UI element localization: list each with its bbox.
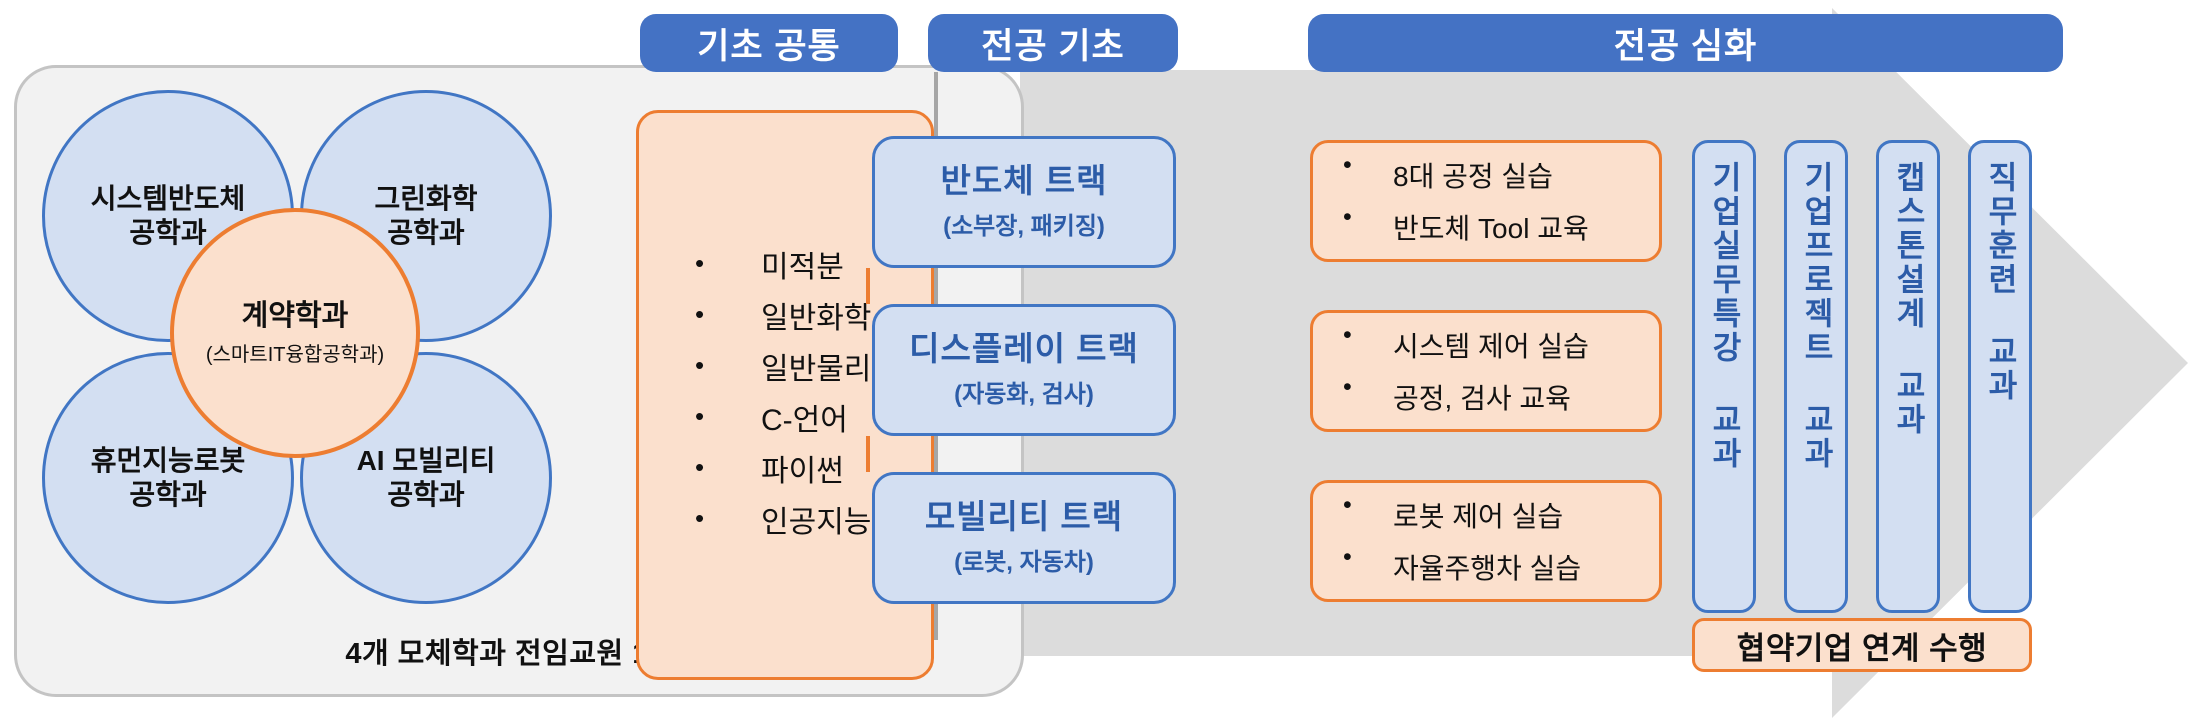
department-line1: 시스템반도체 <box>91 182 246 216</box>
track-box-semiconductor[interactable]: 반도체 트랙 (소부장, 패키징) <box>872 136 1176 268</box>
advanced-card-display: 시스템 제어 실습 공정, 검사 교육 <box>1310 310 1662 432</box>
department-line2: 공학과 <box>374 216 477 250</box>
contract-department-subtitle: (스마트IT융합공학과) <box>206 338 384 367</box>
advanced-card-semiconductor: 8대 공정 실습 반도체 Tool 교육 <box>1310 140 1662 262</box>
connector-orange-1 <box>866 268 870 304</box>
vertical-subject-capstone-design[interactable]: 캡스톤설계 교과 <box>1876 140 1940 613</box>
curriculum-diagram: 4개 모체학과 전임교원 19명 시스템반도체 공학과 그린화학 공학과 휴먼지… <box>0 0 2193 726</box>
list-item: 공정, 검사 교육 <box>1337 377 1659 417</box>
track-box-mobility[interactable]: 모빌리티 트랙 (로봇, 자동차) <box>872 472 1176 604</box>
list-item: 자율주행차 실습 <box>1337 547 1659 587</box>
list-item: 8대 공정 실습 <box>1337 155 1659 195</box>
connector-grey-1 <box>934 268 938 304</box>
track-subtitle: (로봇, 자동차) <box>954 542 1094 577</box>
vertical-subject-job-training[interactable]: 직무훈련 교과 <box>1968 140 2032 613</box>
list-item: 시스템 제어 실습 <box>1337 325 1659 365</box>
header-major-advanced[interactable]: 전공 심화 <box>1308 14 2063 72</box>
contract-department-title: 계약학과 <box>242 299 349 334</box>
department-line2: 공학과 <box>357 478 496 512</box>
track-title: 반도체 트랙 <box>941 163 1108 199</box>
track-title: 디스플레이 트랙 <box>909 331 1139 367</box>
track-box-display[interactable]: 디스플레이 트랙 (자동화, 검사) <box>872 304 1176 436</box>
advanced-card-mobility: 로봇 제어 실습 자율주행차 실습 <box>1310 480 1662 602</box>
advanced-list: 로봇 제어 실습 자율주행차 실습 <box>1313 483 1659 599</box>
vertical-subject-label: 기업실무특강 교과 <box>1709 161 1740 471</box>
advanced-list: 8대 공정 실습 반도체 Tool 교육 <box>1313 143 1659 259</box>
track-title: 모빌리티 트랙 <box>925 499 1123 535</box>
vertical-subject-industry-practice[interactable]: 기업실무특강 교과 <box>1692 140 1756 613</box>
vertical-subject-label: 직무훈련 교과 <box>1985 161 2016 403</box>
track-subtitle: (소부장, 패키징) <box>943 206 1105 241</box>
department-line2: 공학과 <box>91 478 246 512</box>
connector-orange-2 <box>866 436 870 472</box>
list-item: 반도체 Tool 교육 <box>1337 207 1659 247</box>
advanced-list: 시스템 제어 실습 공정, 검사 교육 <box>1313 313 1659 429</box>
department-line1: 휴먼지능로봇 <box>91 444 246 478</box>
department-line1: 그린화학 <box>374 182 477 216</box>
vertical-subject-industry-project[interactable]: 기업프로젝트 교과 <box>1784 140 1848 613</box>
vertical-subject-label: 캡스톤설계 교과 <box>1893 161 1924 437</box>
department-line1: AI 모빌리티 <box>357 444 496 478</box>
connector-grey-3 <box>934 604 938 640</box>
vertical-subject-label: 기업프로젝트 교과 <box>1801 161 1832 471</box>
header-major-basic[interactable]: 전공 기초 <box>928 14 1178 72</box>
contract-department-circle: 계약학과 (스마트IT융합공학과) <box>170 208 420 458</box>
partner-company-banner: 협약기업 연계 수행 <box>1692 618 2032 672</box>
header-basic-common[interactable]: 기초 공통 <box>640 14 898 72</box>
connector-grey-0 <box>934 72 938 136</box>
list-item: 로봇 제어 실습 <box>1337 495 1659 535</box>
track-subtitle: (자동화, 검사) <box>954 374 1094 409</box>
connector-grey-2 <box>934 436 938 472</box>
